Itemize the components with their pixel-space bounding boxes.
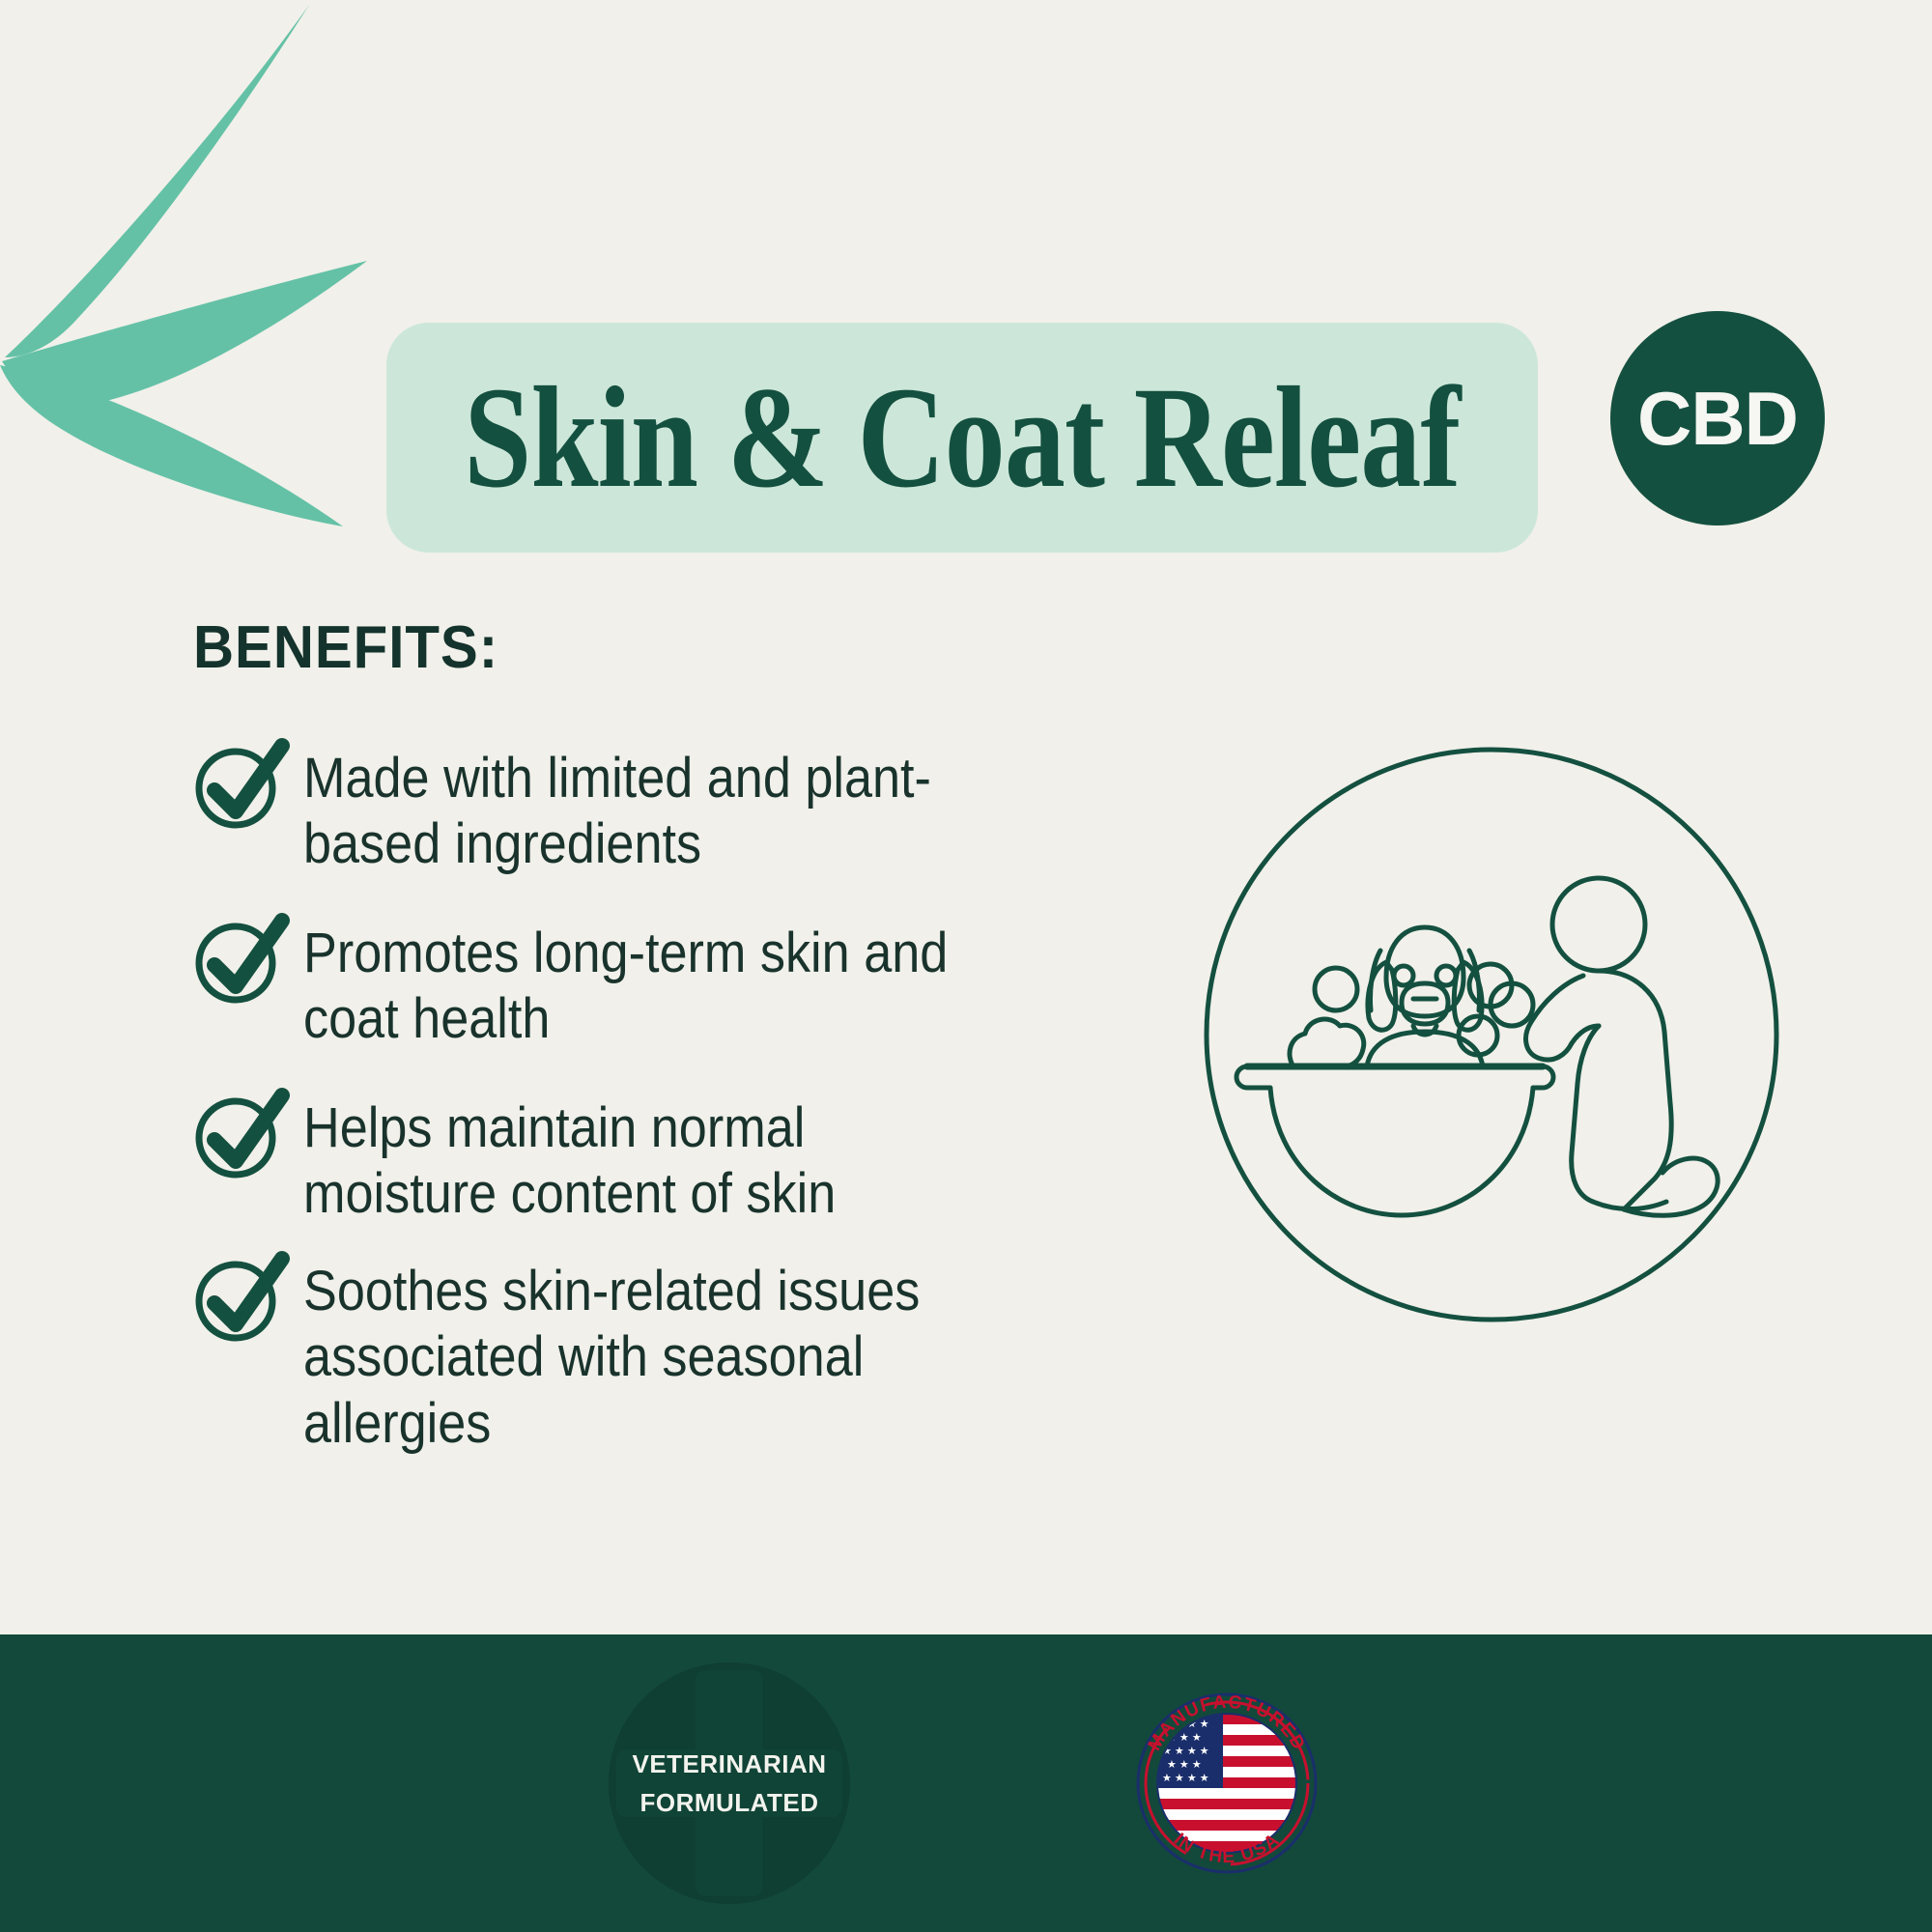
page-title: Skin & Coat Releaf	[464, 365, 1460, 510]
svg-text:★ ★ ★ ★: ★ ★ ★ ★	[1162, 1773, 1209, 1784]
vet-badge-label: VETERINARIAN FORMULATED	[632, 1745, 826, 1823]
cbd-badge-label: CBD	[1637, 381, 1798, 456]
leaf-sprig-decoration	[0, 0, 425, 589]
list-item: Helps maintain normal moisture content o…	[189, 1094, 1078, 1228]
list-item-label: Made with limited and plant-based ingred…	[303, 744, 1001, 878]
benefits-heading: BENEFITS:	[193, 613, 498, 682]
list-item-label: Promotes long-term skin and coat health	[303, 919, 1001, 1053]
benefits-list: Made with limited and plant-based ingred…	[189, 744, 1078, 1497]
check-circle-icon	[189, 1247, 290, 1348]
list-item: Made with limited and plant-based ingred…	[189, 744, 1078, 878]
vet-badge-line2: FORMULATED	[632, 1783, 826, 1822]
manufactured-in-usa-badge: ★ ★ ★ ★ ★ ★ ★ ★ ★ ★ ★ ★ ★ ★ ★ ★ ★ ★ MANU…	[1130, 1687, 1323, 1880]
list-item: Promotes long-term skin and coat health	[189, 919, 1078, 1053]
list-item-label: Soothes skin-related issues associated w…	[303, 1257, 1001, 1457]
dog-bath-illustration	[1193, 736, 1790, 1333]
footer-badges: VETERINARIAN FORMULATED	[0, 1634, 1932, 1932]
check-circle-icon	[189, 909, 290, 1009]
list-item: Soothes skin-related issues associated w…	[189, 1257, 1078, 1457]
vet-badge-line1: VETERINARIAN	[632, 1745, 826, 1783]
svg-text:★ ★ ★: ★ ★ ★	[1167, 1759, 1202, 1771]
check-circle-icon	[189, 1084, 290, 1184]
product-title-pill: Skin & Coat Releaf	[386, 323, 1538, 553]
svg-text:★ ★ ★ ★: ★ ★ ★ ★	[1162, 1746, 1209, 1757]
cbd-badge: CBD	[1610, 311, 1825, 526]
product-benefits-infographic: Skin & Coat Releaf CBD BENEFITS: Made wi…	[0, 0, 1932, 1932]
check-circle-icon	[189, 734, 290, 835]
veterinarian-formulated-badge: VETERINARIAN FORMULATED	[609, 1662, 850, 1904]
list-item-label: Helps maintain normal moisture content o…	[303, 1094, 1001, 1228]
footer-bar: VETERINARIAN FORMULATED	[0, 1634, 1932, 1932]
